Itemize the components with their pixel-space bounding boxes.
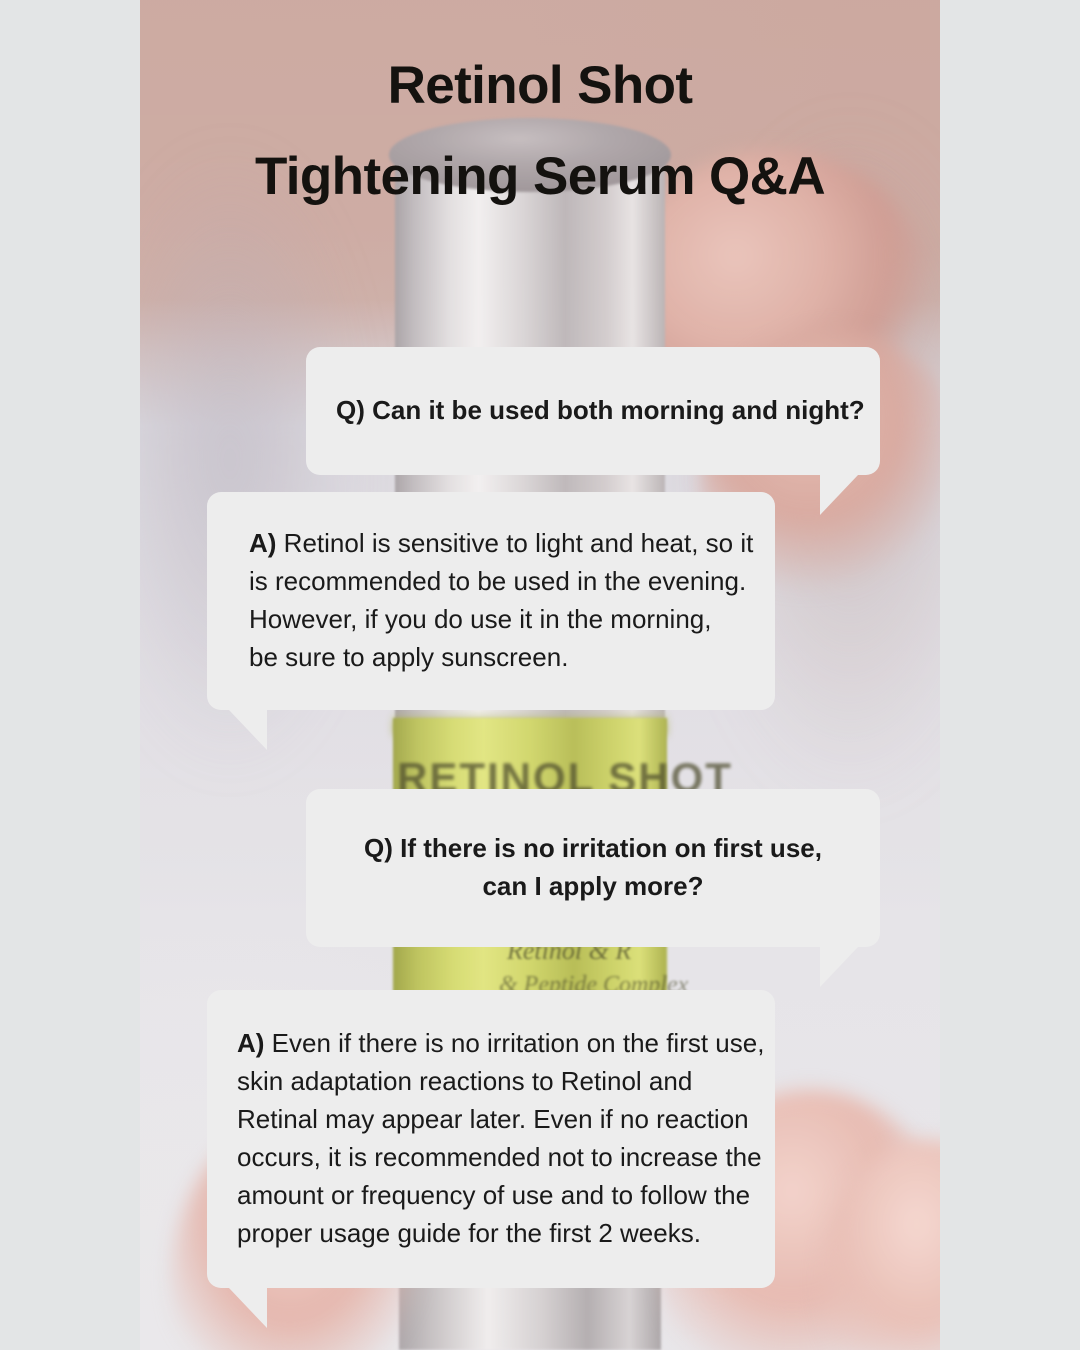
page-title-line-2: Tightening Serum Q&A [140, 131, 940, 222]
question-bubble-1: Q) Can it be used both morning and night… [306, 347, 880, 475]
answer-bubble-2-line-5: amount or frequency of use and to follow… [237, 1176, 745, 1214]
page-title: Retinol Shot Tightening Serum Q&A [140, 40, 940, 222]
answer-bubble-1-line-4: be sure to apply sunscreen. [249, 638, 733, 676]
question-bubble-2-line-1: Q) If there is no irritation on first us… [336, 829, 850, 867]
answer-bubble-2-line-2: skin adaptation reactions to Retinol and [237, 1062, 745, 1100]
answer-bubble-2-line-1: A) Even if there is no irritation on the… [237, 1024, 745, 1062]
answer-bubble-2: A) Even if there is no irritation on the… [207, 990, 775, 1288]
question-bubble-2: Q) If there is no irritation on first us… [306, 789, 880, 947]
answer-bubble-1-line-1: A) Retinol is sensitive to light and hea… [249, 524, 733, 562]
infographic-page: RETINOL SHOT Retinol & R & Peptide Compl… [0, 0, 1080, 1350]
answer-bubble-1-line-3: However, if you do use it in the morning… [249, 600, 733, 638]
answer-bubble-1: A) Retinol is sensitive to light and hea… [207, 492, 775, 710]
answer-bubble-2-line-3: Retinal may appear later. Even if no rea… [237, 1100, 745, 1138]
answer-bubble-2-line-4: occurs, it is recommended not to increas… [237, 1138, 745, 1176]
answer-bubble-1-line-2: is recommended to be used in the evening… [249, 562, 733, 600]
question-bubble-1-line-1: Q) Can it be used both morning and night… [336, 391, 850, 429]
question-bubble-2-line-2: can I apply more? [336, 867, 850, 905]
answer-bubble-2-line-6: proper usage guide for the first 2 weeks… [237, 1214, 745, 1252]
page-title-line-1: Retinol Shot [140, 40, 940, 131]
